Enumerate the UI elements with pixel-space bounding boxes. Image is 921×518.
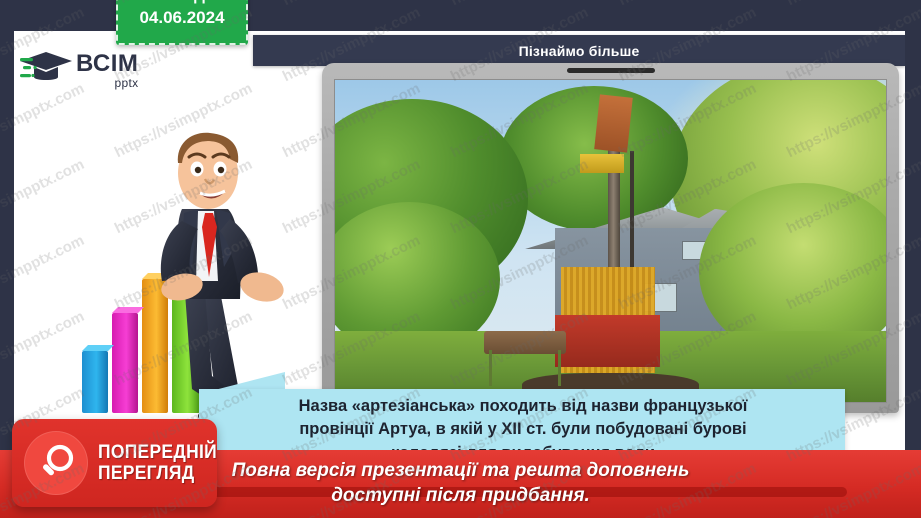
- watermark-text: https://vsimpptx.com: [0, 0, 87, 9]
- photo-rig-head: [594, 95, 633, 153]
- webcam-icon: [567, 68, 655, 73]
- photo-rig-chassis: [555, 315, 660, 367]
- logo-title: ВСІМ: [76, 52, 138, 76]
- graduation-cap-icon: [20, 48, 72, 92]
- laptop-frame: [322, 63, 899, 413]
- watermark-text: https://vsimpptx.com: [448, 0, 591, 9]
- page-title: Пізнаймо більше: [519, 43, 640, 59]
- preview-line-1: ПОПЕРЕДНІЙ: [98, 442, 217, 463]
- callout-line-1: Назва «артезіанська» походить від назви …: [223, 395, 823, 418]
- preview-badge-label: ПОПЕРЕДНІЙ ПЕРЕГЛЯД: [98, 442, 217, 485]
- callout-line-2: провінції Артуа, в якій у XII ст. були п…: [223, 418, 823, 441]
- watermark-text: https://vsimpptx.com: [616, 0, 759, 9]
- logo-subtitle: pptx: [115, 77, 139, 89]
- preview-line-2: ПЕРЕГЛЯД: [98, 463, 217, 484]
- date-badge-label: Сьогодні: [144, 0, 220, 7]
- brand-logo: ВСІМ pptx: [14, 41, 144, 99]
- date-badge-value: 04.06.2024: [139, 7, 224, 30]
- promo-line-2: доступні після придбання.: [331, 484, 590, 509]
- slide-root: ВСІМ pptx Пізнаймо більше: [0, 0, 921, 518]
- laptop-screen-photo: [334, 79, 887, 403]
- preview-badge[interactable]: ПОПЕРЕДНІЙ ПЕРЕГЛЯД: [12, 419, 217, 507]
- photo-rig-clamp: [580, 154, 624, 173]
- promo-line-1: Повна версія презентації та решта доповн…: [232, 459, 690, 484]
- logo-text: ВСІМ pptx: [76, 52, 138, 89]
- magnifier-icon: [24, 431, 88, 495]
- photo-pipe-table: [489, 350, 561, 385]
- laptop-bezel: [322, 63, 899, 413]
- date-badge: Сьогодні 04.06.2024: [116, 0, 248, 45]
- watermark-text: https://vsimpptx.com: [784, 0, 921, 9]
- watermark-text: https://vsimpptx.com: [280, 0, 423, 9]
- header-bar: Пізнаймо більше: [253, 35, 905, 66]
